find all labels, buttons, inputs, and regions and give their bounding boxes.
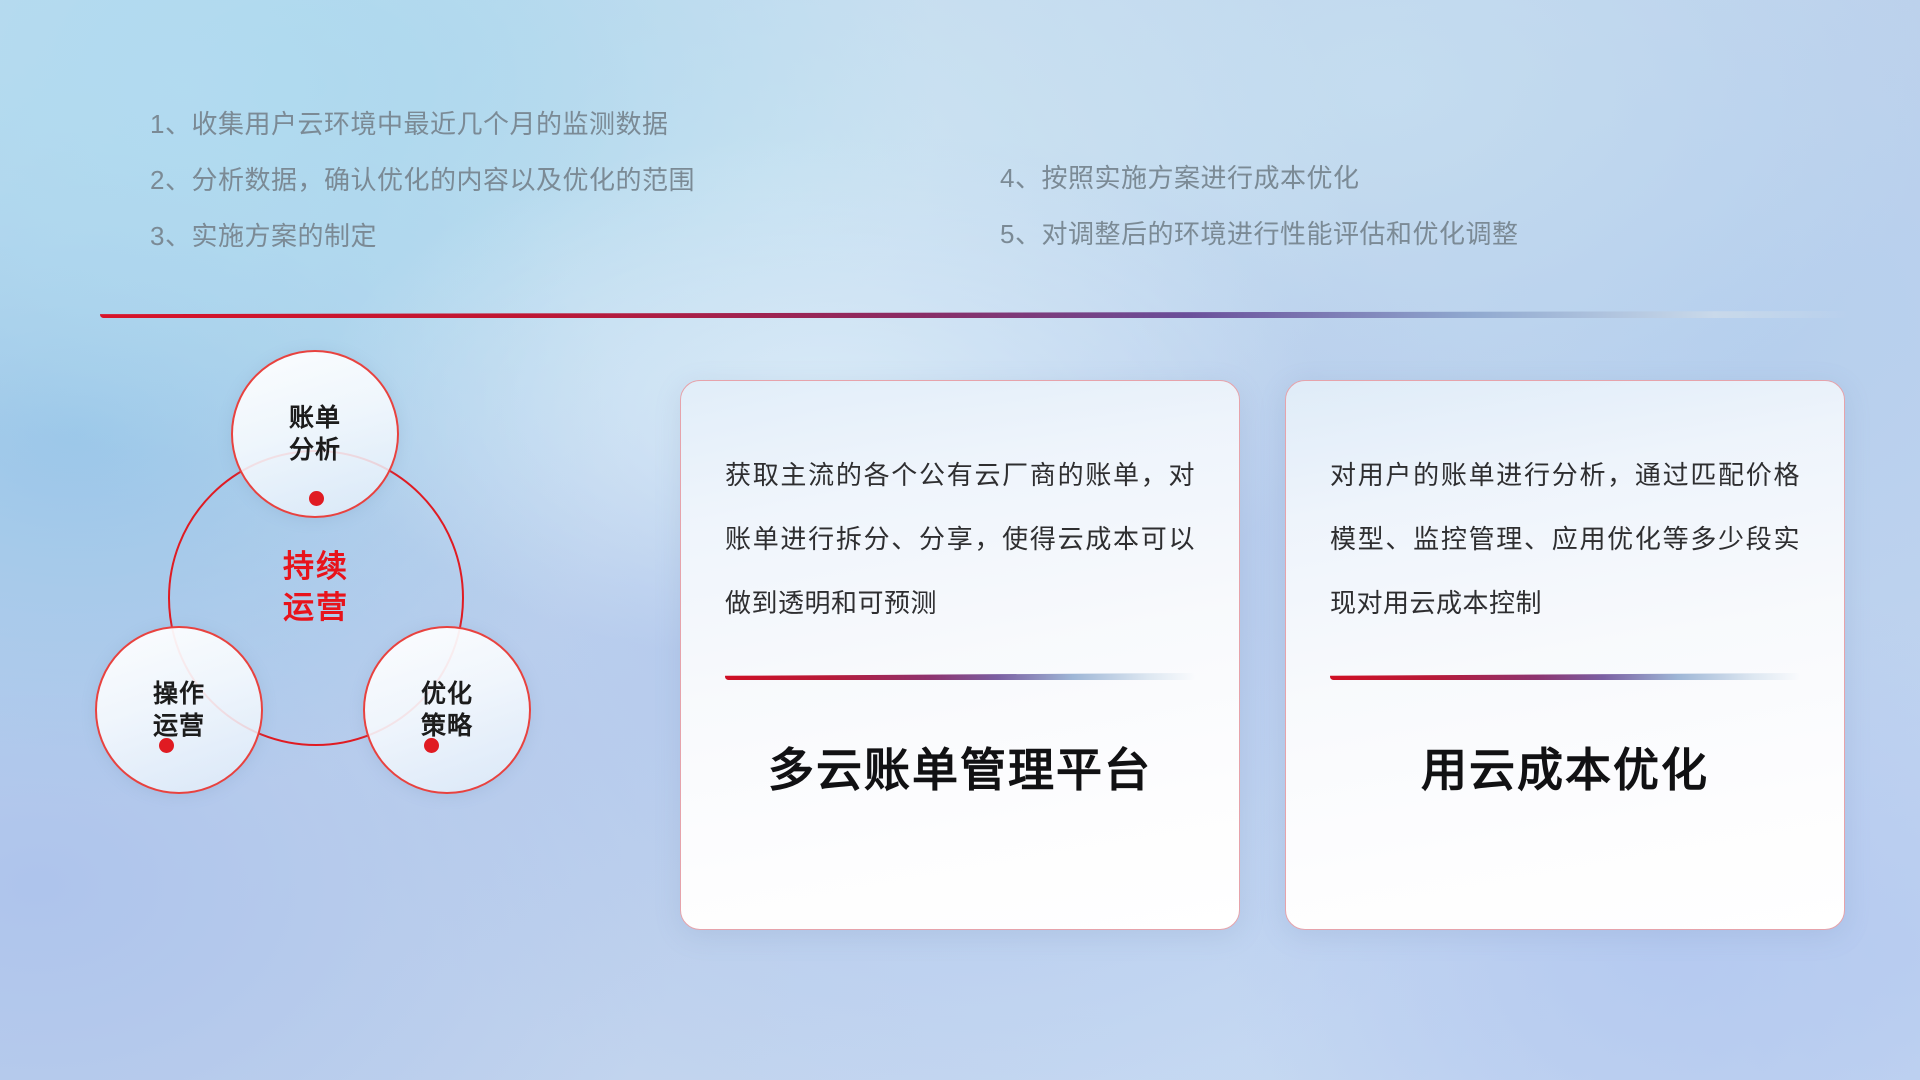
venn-node-operations[interactable]: 操作 运营 — [95, 626, 263, 794]
venn-center-label-line2: 运营 — [168, 587, 464, 628]
info-card-divider — [1330, 673, 1800, 680]
venn-node-label-line2: 运营 — [153, 710, 205, 742]
info-card-cloud-cost-optimization[interactable]: 对用户的账单进行分析，通过匹配价格模型、监控管理、应用优化等多少段实现对用云成本… — [1285, 380, 1845, 930]
info-card-body: 对用户的账单进行分析，通过匹配价格模型、监控管理、应用优化等多少段实现对用云成本… — [1330, 443, 1800, 635]
process-step-item: 3、实施方案的制定 — [150, 208, 695, 264]
venn-node-optimization-strategy[interactable]: 优化 策略 — [363, 626, 531, 794]
info-card-divider — [725, 673, 1195, 680]
process-step-item: 2、分析数据，确认优化的内容以及优化的范围 — [150, 152, 695, 208]
venn-center-label-line1: 持续 — [168, 546, 464, 587]
venn-node-label-line1: 操作 — [153, 678, 205, 710]
venn-connector-dot-top — [309, 491, 324, 506]
info-card-title: 用云成本优化 — [1330, 734, 1800, 800]
process-step-item: 4、按照实施方案进行成本优化 — [1000, 150, 1518, 206]
info-card-multi-cloud-billing-platform[interactable]: 获取主流的各个公有云厂商的账单，对账单进行拆分、分享，使得云成本可以做到透明和可… — [680, 380, 1240, 930]
venn-node-label-line1: 账单 — [289, 402, 341, 434]
venn-connector-dot-right — [424, 738, 439, 753]
venn-node-label: 操作 运营 — [153, 678, 205, 742]
venn-node-label: 优化 策略 — [421, 678, 473, 742]
info-card-body: 获取主流的各个公有云厂商的账单，对账单进行拆分、分享，使得云成本可以做到透明和可… — [725, 443, 1195, 635]
venn-connector-dot-left — [159, 738, 174, 753]
venn-center-label: 持续 运营 — [168, 546, 464, 628]
venn-node-label: 账单 分析 — [289, 402, 341, 466]
venn-node-label-line1: 优化 — [421, 678, 473, 710]
venn-node-label-line2: 策略 — [421, 710, 473, 742]
venn-diagram: 持续 运营 账单 分析 操作 运营 优化 策略 — [95, 350, 565, 820]
venn-node-label-line2: 分析 — [289, 434, 341, 466]
process-step-item: 5、对调整后的环境进行性能评估和优化调整 — [1000, 206, 1518, 262]
process-steps-left-column: 1、收集用户云环境中最近几个月的监测数据 2、分析数据，确认优化的内容以及优化的… — [150, 96, 695, 264]
process-steps-right-column: 4、按照实施方案进行成本优化 5、对调整后的环境进行性能评估和优化调整 — [1000, 150, 1518, 262]
process-step-item: 1、收集用户云环境中最近几个月的监测数据 — [150, 96, 695, 152]
info-card-title: 多云账单管理平台 — [725, 734, 1195, 800]
